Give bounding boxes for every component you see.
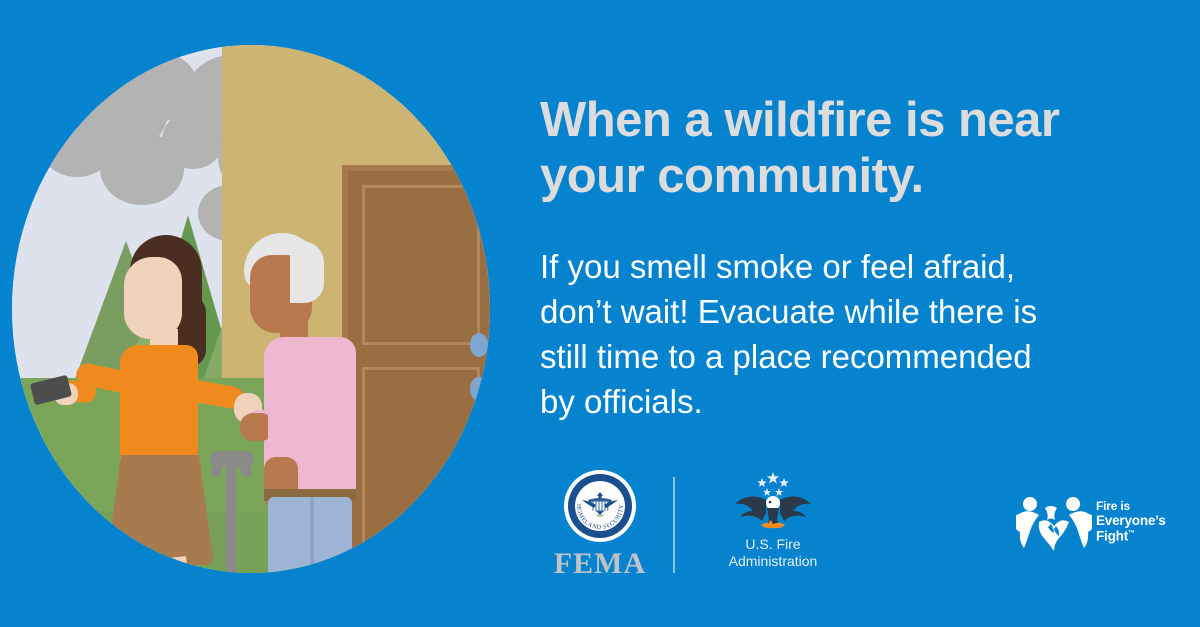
- logo-divider: [673, 477, 675, 573]
- door-knob: [470, 333, 488, 357]
- usfa-wordmark: U.S. Fire Administration: [698, 536, 848, 570]
- headline-line-1: When a wildfire is near: [540, 92, 1120, 148]
- usfa-logo: U.S. Fire Administration: [698, 470, 848, 570]
- body-line-4: by officials.: [540, 379, 1140, 424]
- body-copy: If you smell smoke or feel afraid, don’t…: [540, 244, 1140, 424]
- open-door: [342, 165, 490, 565]
- door-deadbolt: [470, 377, 488, 401]
- fief-line-3: Fight™: [1096, 527, 1166, 543]
- fire-is-everyones-fight-logo: Fire is Everyone’s Fight™: [1016, 492, 1146, 554]
- dhs-seal-icon: U.S. DEPARTMENT OF HOMELAND SECURITY: [564, 470, 636, 542]
- usfa-line-1: U.S. Fire: [698, 536, 848, 553]
- usfa-eagle-icon: [725, 470, 821, 534]
- poster-canvas: When a wildfire is near your community. …: [0, 0, 1200, 627]
- fief-line-1: Fire is: [1096, 500, 1166, 514]
- trademark-symbol: ™: [1128, 530, 1135, 537]
- headline-line-2: your community.: [540, 148, 1120, 204]
- wildfire-evacuation-illustration: [12, 45, 490, 573]
- body-line-3: still time to a place recommended: [540, 334, 1140, 379]
- headline: When a wildfire is near your community.: [540, 92, 1120, 204]
- fire-is-everyones-fight-icon: [1016, 492, 1092, 552]
- fema-logo: U.S. DEPARTMENT OF HOMELAND SECURITY: [536, 470, 664, 580]
- fire-is-everyones-fight-wordmark: Fire is Everyone’s Fight™: [1096, 500, 1166, 543]
- fief-fight-text: Fight: [1096, 529, 1128, 544]
- fema-wordmark: FEMA: [536, 548, 664, 580]
- usfa-line-2: Administration: [698, 553, 848, 570]
- body-line-2: don’t wait! Evacuate while there is: [540, 289, 1140, 334]
- body-line-1: If you smell smoke or feel afraid,: [540, 244, 1140, 289]
- fief-line-2: Everyone’s: [1096, 514, 1166, 528]
